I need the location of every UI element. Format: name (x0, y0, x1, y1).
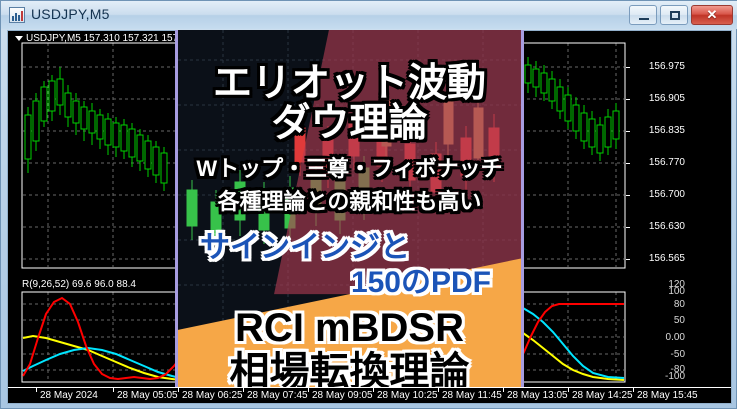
promo-feature-line1: サインインジと (178, 233, 521, 263)
time-axis-label: 28 May 14:25 (572, 390, 633, 401)
close-icon: ✕ (692, 6, 732, 24)
indicator-axis-label: 0.00 (666, 332, 685, 343)
application-window: USDJPY,M5 ✕ (0, 0, 737, 409)
time-tick (438, 388, 439, 392)
indicator-axis-label: 100 (668, 286, 685, 297)
time-tick (243, 388, 244, 392)
indicator-axis-label: 80 (674, 299, 685, 310)
promo-footer-line1: RCI mBDSR (178, 308, 521, 348)
promo-overlay: エリオット波動 ダウ理論 Wトップ・三尊・フィボナッチ 各種理論との親和性も高い… (175, 30, 524, 387)
promo-subheading-line2: 各種理論との親和性も高い (178, 191, 521, 213)
close-button[interactable]: ✕ (691, 5, 733, 25)
window-title: USDJPY,M5 (31, 6, 110, 22)
time-tick (178, 388, 179, 392)
time-axis: 28 May 2024 28 May 05:05 28 May 06:25 28… (8, 387, 732, 403)
title-bar: USDJPY,M5 ✕ (1, 1, 737, 29)
minimize-icon (639, 18, 649, 20)
time-axis-label: 28 May 13:05 (507, 390, 568, 401)
promo-subheading-line1: Wトップ・三尊・フィボナッチ (178, 158, 521, 180)
time-axis-label: 28 May 2024 (40, 390, 98, 401)
price-axis-label: 156.700 (649, 189, 685, 200)
promo-footer-line2: 相場転換理論 (178, 352, 521, 387)
price-axis-label: 156.975 (649, 61, 685, 72)
price-axis-label: 156.905 (649, 93, 685, 104)
minimize-button[interactable] (629, 5, 657, 25)
time-axis-label: 28 May 07:45 (247, 390, 308, 401)
indicator-header-label: R(9,26,52) 69.6 96.0 88.4 (22, 279, 136, 290)
time-tick (113, 388, 114, 392)
chart-header-label: USDJPY,M5 157.310 157.321 157. (26, 33, 181, 44)
indicator-axis-label: -50 (671, 349, 685, 360)
time-tick (308, 388, 309, 392)
chart-icon (9, 7, 25, 23)
time-axis-label: 28 May 05:05 (117, 390, 178, 401)
maximize-button[interactable] (660, 5, 688, 25)
time-tick (373, 388, 374, 392)
price-axis-label: 156.835 (649, 125, 685, 136)
time-axis-label: 28 May 11:45 (442, 390, 502, 401)
time-tick (633, 388, 634, 392)
price-tick (626, 99, 630, 100)
promo-feature-line2: 150のPDF (178, 268, 521, 298)
window-controls: ✕ (629, 5, 733, 26)
price-tick (626, 259, 630, 260)
price-tick (626, 195, 630, 196)
indicator-axis-label: -100 (665, 371, 685, 382)
time-tick (36, 388, 37, 392)
maximize-icon (670, 11, 680, 20)
price-tick (626, 227, 630, 228)
promo-heading-line2: ダウ理論 (178, 104, 521, 143)
price-tick (626, 67, 630, 68)
chart-menu-arrow-icon[interactable] (15, 36, 23, 41)
price-tick (626, 163, 630, 164)
price-axis-label: 156.630 (649, 221, 685, 232)
time-tick (503, 388, 504, 392)
time-axis-label: 28 May 06:25 (182, 390, 243, 401)
time-axis-label: 28 May 09:05 (312, 390, 373, 401)
time-axis-label: 28 May 15:45 (637, 390, 698, 401)
indicator-axis-label: 50 (674, 315, 685, 326)
time-axis-label: 28 May 10:25 (377, 390, 438, 401)
price-tick (626, 131, 630, 132)
promo-heading-line1: エリオット波動 (178, 64, 521, 103)
time-tick (568, 388, 569, 392)
price-axis-label: 156.770 (649, 157, 685, 168)
price-axis-label: 156.565 (649, 253, 685, 264)
